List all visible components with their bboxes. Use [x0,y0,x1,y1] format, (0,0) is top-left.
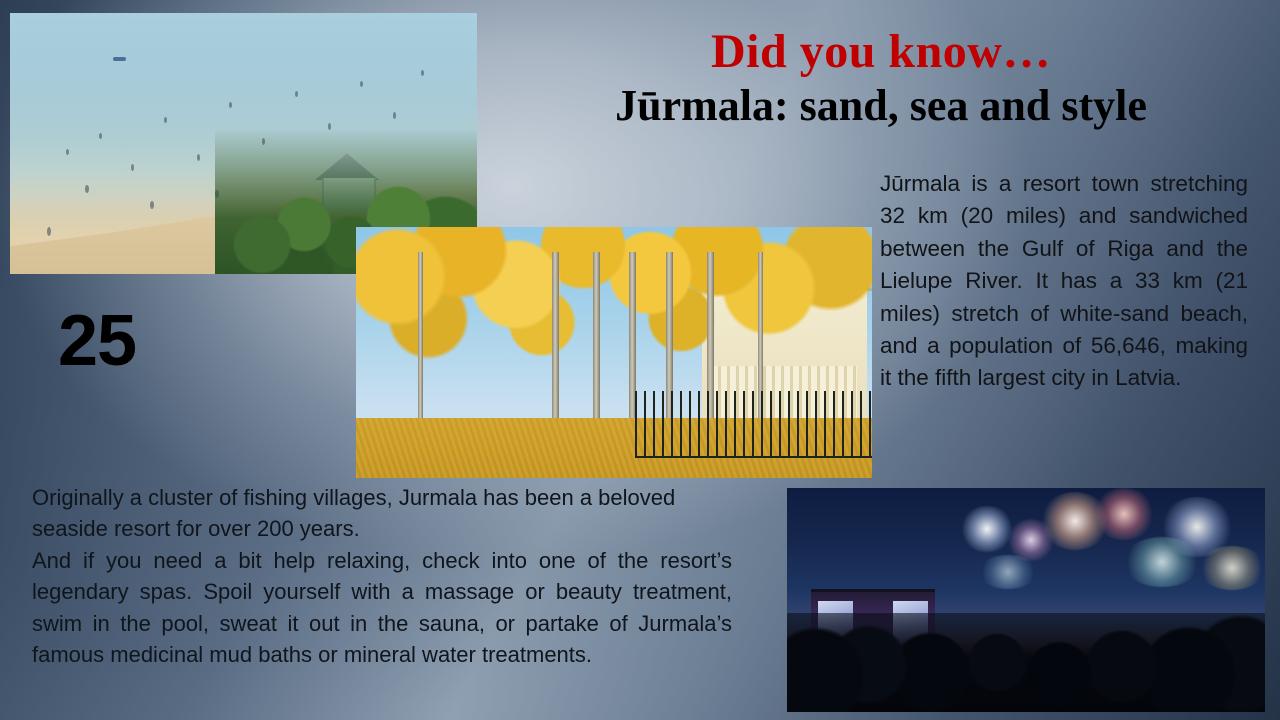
beach-boat-shape [113,57,126,61]
history-paragraph-2: And if you need a bit help relaxing, che… [32,545,732,671]
slide-number: 25 [58,305,136,377]
fireworks-crowd-layer [787,613,1265,712]
jurmala-description-paragraph: Jūrmala is a resort town stretching 32 k… [880,168,1248,395]
autumn-fence-shape [635,391,872,458]
page-title: Did you know… [486,28,1276,77]
jurmala-autumn-street-photo [356,227,872,478]
presentation-slide: Did you know… Jūrmala: sand, sea and sty… [0,0,1280,720]
slide-title-block: Did you know… Jūrmala: sand, sea and sty… [486,28,1276,130]
jurmala-festival-fireworks-photo [787,488,1265,712]
history-paragraph-1: Originally a cluster of fishing villages… [32,482,732,545]
page-subtitle: Jūrmala: sand, sea and style [486,83,1276,130]
jurmala-history-block: Originally a cluster of fishing villages… [32,482,732,671]
